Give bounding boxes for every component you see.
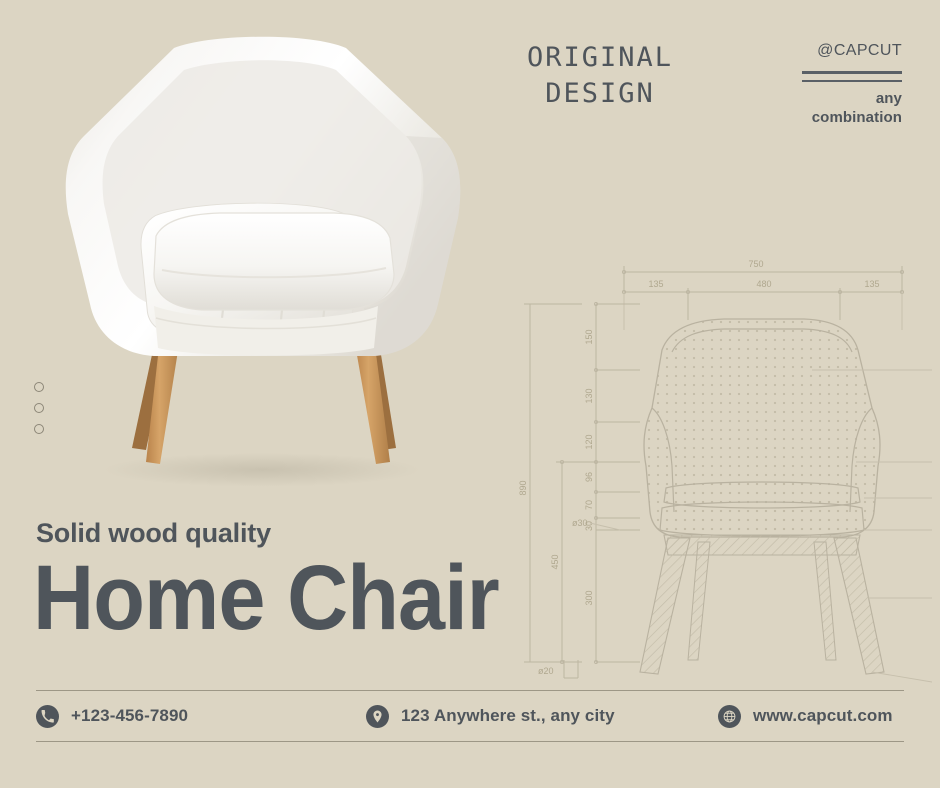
brand-rule-top xyxy=(802,71,902,74)
contact-address[interactable]: 123 Anywhere st., any city xyxy=(366,705,718,728)
dim-300: 300 xyxy=(584,590,594,605)
dim-890: 890 xyxy=(518,480,528,495)
callout-d30: ø30 xyxy=(572,518,588,528)
location-pin-icon xyxy=(366,705,389,728)
brand-rule-bottom xyxy=(802,80,902,83)
dot-2 xyxy=(34,403,44,413)
globe-icon xyxy=(718,705,741,728)
dim-135-left: 135 xyxy=(648,279,663,289)
header-title: ORIGINAL DESIGN xyxy=(500,40,700,113)
dim-150: 150 xyxy=(584,329,594,344)
dim-70: 70 xyxy=(584,500,594,510)
address-text: 123 Anywhere st., any city xyxy=(401,706,615,726)
brand-subtext-line1: any xyxy=(702,90,902,109)
dim-750: 750 xyxy=(748,259,763,269)
callout-d20: ø20 xyxy=(538,666,554,676)
decorative-dots xyxy=(34,382,44,445)
dot-1 xyxy=(34,382,44,392)
chair-technical-drawing: .dl { stroke:#bdb6a2; stroke-width:1; fi… xyxy=(512,230,932,690)
phone-icon xyxy=(36,705,59,728)
armchair-product-photo xyxy=(34,18,474,488)
contact-website[interactable]: www.capcut.com xyxy=(718,705,904,728)
product-subtitle: Solid wood quality xyxy=(36,518,271,549)
brand-divider-rules xyxy=(802,71,902,82)
dim-450: 450 xyxy=(550,554,560,569)
dim-480: 480 xyxy=(756,279,771,289)
contact-phone[interactable]: +123-456-7890 xyxy=(36,705,366,728)
dim-130: 130 xyxy=(584,388,594,403)
dim-96: 96 xyxy=(584,472,594,482)
phone-text: +123-456-7890 xyxy=(71,706,188,726)
dim-120: 120 xyxy=(584,434,594,449)
brand-subtext-line2: combination xyxy=(702,109,902,128)
header-title-line1: ORIGINAL xyxy=(527,42,673,73)
page-title: Home Chair xyxy=(33,552,499,644)
dot-3 xyxy=(34,424,44,434)
brand-handle: @CAPCUT xyxy=(702,42,902,60)
poster-canvas: ORIGINAL DESIGN @CAPCUT any combination xyxy=(0,0,940,788)
contact-bar: +123-456-7890 123 Anywhere st., any city xyxy=(36,690,904,742)
brand-block: @CAPCUT any combination xyxy=(702,42,902,128)
dim-135-right: 135 xyxy=(864,279,879,289)
website-text: www.capcut.com xyxy=(753,706,893,726)
brand-subtext: any combination xyxy=(702,90,902,128)
header-title-line2: DESIGN xyxy=(500,76,700,112)
